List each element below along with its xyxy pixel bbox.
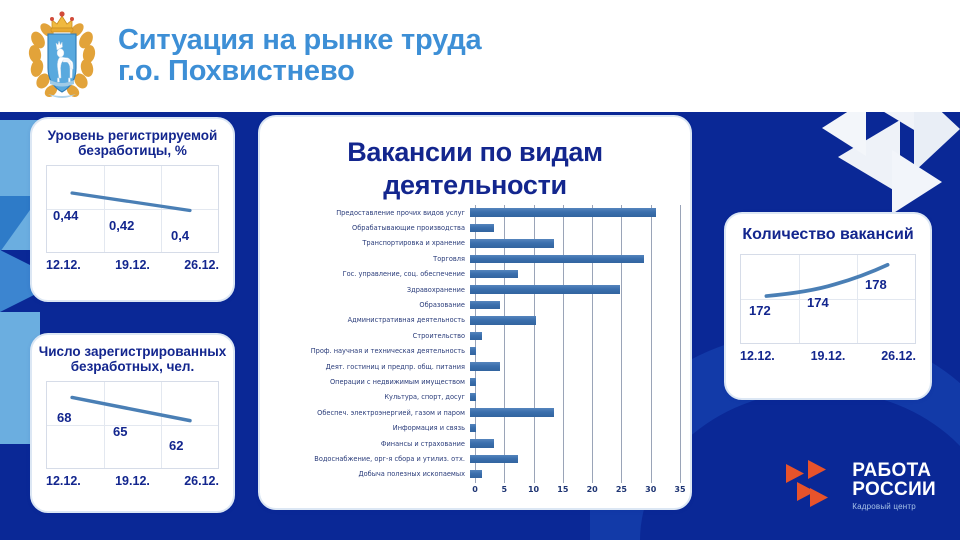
bar-category-label: Торговля: [274, 255, 470, 263]
data-label-vac-1: 174: [807, 295, 829, 310]
bar-track: [470, 297, 680, 312]
bar-fill: [470, 393, 476, 401]
bar-fill: [470, 224, 494, 232]
bar-track: [470, 467, 680, 482]
bar-fill: [470, 424, 476, 432]
x-axis-tick: 15: [557, 485, 568, 494]
bar-category-label: Гос. управление, соц. обеспечение: [274, 270, 470, 278]
axis-unemployment-rate: 12.12. 19.12. 26.12.: [46, 258, 219, 272]
bar-row: Здравохранение: [274, 282, 680, 297]
chart-unemployment-rate: 0,44 0,42 0,4: [46, 165, 219, 253]
card-vacancies-count: Количество вакансий 172 174 178 12.12. 1…: [724, 212, 932, 400]
chart-vacancies-by-activity: Предоставление прочих видов услугОбрабат…: [274, 205, 680, 501]
x-axis-tick: 10: [528, 485, 539, 494]
bar-row: Информация и связь: [274, 420, 680, 435]
bar-category-label: Образование: [274, 301, 470, 309]
axis-tick-vac-1: 19.12.: [811, 349, 846, 363]
bar-fill: [470, 239, 554, 247]
bar-category-label: Операции с недвижимым имуществом: [274, 378, 470, 386]
axis-tick-vac-0: 12.12.: [740, 349, 775, 363]
bar-fill: [470, 470, 482, 478]
bar-row: Добыча полезных ископаемых: [274, 467, 680, 482]
bar-row: Проф. научная и техническая деятельность: [274, 344, 680, 359]
data-label-vac-2: 178: [865, 277, 887, 292]
data-label-rate-2: 0,4: [171, 228, 189, 243]
bar-track: [470, 236, 680, 251]
bar-category-label: Административная деятельность: [274, 316, 470, 324]
bar-row: Водоснабжение, орг-я сбора и утилиз. отх…: [274, 451, 680, 466]
bar-category-label: Информация и связь: [274, 424, 470, 432]
bar-track: [470, 374, 680, 389]
card-unemployed-count: Число зарегистрированных безработных, че…: [30, 333, 235, 513]
slide-root: Ситуация на рынке труда г.о. Похвистнево…: [0, 0, 960, 540]
bar-fill: [470, 285, 620, 293]
bar-track: [470, 267, 680, 282]
bar-category-label: Культура, спорт, досуг: [274, 393, 470, 401]
bar-fill: [470, 455, 518, 463]
axis-tick-rate-2: 26.12.: [184, 258, 219, 272]
main-chart-title-line1: Вакансии по видам: [260, 117, 690, 168]
chart-x-axis: 05101520253035: [475, 485, 680, 501]
bar-track: [470, 328, 680, 343]
page-title-line2: г.о. Похвистнево: [118, 56, 481, 87]
bar-fill: [470, 332, 482, 340]
card-vacancies-by-activity: Вакансии по видам деятельности Предостав…: [258, 115, 692, 510]
axis-vacancies-count: 12.12. 19.12. 26.12.: [740, 349, 916, 363]
logo-mark-icon: [784, 458, 840, 514]
axis-tick-rate-0: 12.12.: [46, 258, 81, 272]
bar-category-label: Деят. гостиниц и предпр. общ. питания: [274, 363, 470, 371]
data-label-rate-0: 0,44: [53, 208, 78, 223]
bar-track: [470, 451, 680, 466]
x-axis-tick: 5: [501, 485, 507, 494]
header: Ситуация на рынке труда г.о. Похвистнево: [0, 0, 960, 112]
bar-rows-host: Предоставление прочих видов услугОбрабат…: [274, 205, 680, 482]
bar-category-label: Обрабатывающие производства: [274, 224, 470, 232]
chart-unemployed-count: 68 65 62: [46, 381, 219, 469]
bar-category-label: Здравохранение: [274, 286, 470, 294]
bar-track: [470, 405, 680, 420]
bar-track: [470, 436, 680, 451]
bar-row: Административная деятельность: [274, 313, 680, 328]
bar-track: [470, 282, 680, 297]
axis-tick-vac-2: 26.12.: [881, 349, 916, 363]
bar-fill: [470, 439, 494, 447]
bar-row: Гос. управление, соц. обеспечение: [274, 267, 680, 282]
axis-tick-count-2: 26.12.: [184, 474, 219, 488]
bar-track: [470, 205, 680, 220]
bar-fill: [470, 408, 554, 416]
bar-track: [470, 359, 680, 374]
logo-text-block: РАБОТА РОССИИ Кадровый центр: [852, 461, 936, 512]
axis-tick-count-0: 12.12.: [46, 474, 81, 488]
bar-row: Торговля: [274, 251, 680, 266]
bar-fill: [470, 378, 476, 386]
bar-track: [470, 344, 680, 359]
bar-fill: [470, 362, 500, 370]
main-chart-title-line2: деятельности: [260, 168, 690, 201]
bar-category-label: Транспортировка и хранение: [274, 239, 470, 247]
bar-category-label: Строительство: [274, 332, 470, 340]
bar-row: Финансы и страхование: [274, 436, 680, 451]
data-label-rate-1: 0,42: [109, 218, 134, 233]
bar-track: [470, 220, 680, 235]
bar-category-label: Водоснабжение, орг-я сбора и утилиз. отх…: [274, 455, 470, 463]
bar-row: Обеспеч. электроэнергией, газом и паром: [274, 405, 680, 420]
page-title-line1: Ситуация на рынке труда: [118, 25, 481, 56]
bar-track: [470, 390, 680, 405]
bar-fill: [470, 301, 500, 309]
samara-oblast-coat-of-arms-icon: [26, 6, 98, 106]
data-label-count-2: 62: [169, 438, 183, 453]
bar-row: Деят. гостиниц и предпр. общ. питания: [274, 359, 680, 374]
gridline: [680, 205, 681, 483]
x-axis-tick: 0: [472, 485, 478, 494]
data-label-count-0: 68: [57, 410, 71, 425]
bar-track: [470, 420, 680, 435]
bar-fill: [470, 208, 656, 216]
axis-tick-count-1: 19.12.: [115, 474, 150, 488]
bar-row: Транспортировка и хранение: [274, 236, 680, 251]
bar-fill: [470, 270, 518, 278]
axis-tick-rate-1: 19.12.: [115, 258, 150, 272]
bar-row: Операции с недвижимым имуществом: [274, 374, 680, 389]
rabota-rossii-logo: РАБОТА РОССИИ Кадровый центр: [784, 458, 936, 514]
card-title-vacancies-count: Количество вакансий: [726, 214, 930, 244]
bar-row: Предоставление прочих видов услуг: [274, 205, 680, 220]
bar-fill: [470, 255, 644, 263]
data-label-count-1: 65: [113, 424, 127, 439]
line-series-unemployed-count: [47, 382, 218, 467]
x-axis-tick: 35: [674, 485, 685, 494]
bar-row: Обрабатывающие производства: [274, 220, 680, 235]
logo-subtitle: Кадровый центр: [852, 502, 936, 511]
bar-row: Культура, спорт, досуг: [274, 390, 680, 405]
bar-category-label: Предоставление прочих видов услуг: [274, 209, 470, 217]
card-title-unemployment-rate: Уровень регистрируемой безработицы, %: [32, 119, 233, 159]
bar-track: [470, 251, 680, 266]
card-title-unemployed-count: Число зарегистрированных безработных, че…: [32, 335, 233, 375]
logo-line1: РАБОТА: [852, 461, 936, 480]
logo-line2: РОССИИ: [852, 480, 936, 499]
header-title-block: Ситуация на рынке труда г.о. Похвистнево: [118, 25, 481, 88]
bar-category-label: Проф. научная и техническая деятельность: [274, 347, 470, 355]
x-axis-tick: 20: [587, 485, 598, 494]
bar-fill: [470, 347, 476, 355]
bar-row: Образование: [274, 297, 680, 312]
bar-category-label: Обеспеч. электроэнергией, газом и паром: [274, 409, 470, 417]
bar-row: Строительство: [274, 328, 680, 343]
card-unemployment-rate: Уровень регистрируемой безработицы, % 0,…: [30, 117, 235, 302]
chart-vacancies-count: 172 174 178: [740, 254, 916, 344]
bar-fill: [470, 316, 536, 324]
data-label-vac-0: 172: [749, 303, 771, 318]
axis-unemployed-count: 12.12. 19.12. 26.12.: [46, 474, 219, 488]
bar-track: [470, 313, 680, 328]
x-axis-tick: 30: [645, 485, 656, 494]
bar-category-label: Добыча полезных ископаемых: [274, 470, 470, 478]
x-axis-tick: 25: [616, 485, 627, 494]
bar-category-label: Финансы и страхование: [274, 440, 470, 448]
